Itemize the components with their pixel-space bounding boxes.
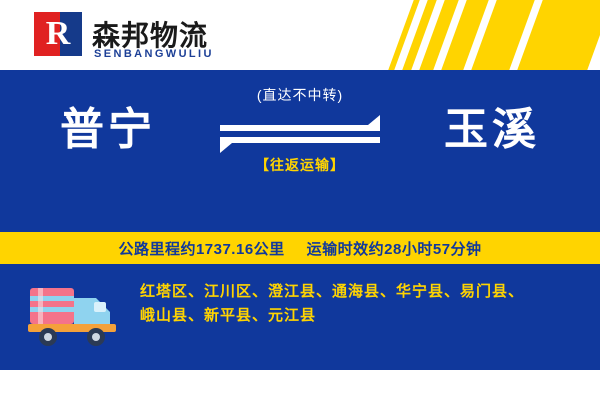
footer-strip (0, 370, 600, 400)
two-way-arrow-icon (215, 111, 385, 157)
coverage-areas: 红塔区、江川区、澄江县、通海县、华宁县、易门县、 峨山县、新平县、元江县 (140, 280, 570, 328)
logo-letter: R (34, 12, 82, 56)
duration-text: 运输时效约28小时57分钟 (307, 238, 482, 259)
poster-canvas: R 森邦物流 SENBANGWULIU 普宁 (直达不中转) 【往返运输】 玉溪… (0, 0, 600, 400)
header-bar: R 森邦物流 SENBANGWULIU (0, 0, 600, 70)
distance-text: 公路里程约1737.16公里 (118, 238, 284, 259)
truck-icon (28, 282, 124, 352)
diagonal-stripes-decoration (310, 0, 600, 70)
route-middle: (直达不中转) 【往返运输】 (215, 85, 385, 175)
route-block: 普宁 (直达不中转) 【往返运输】 玉溪 (0, 85, 600, 195)
info-bar: 公路里程约1737.16公里 运输时效约28小时57分钟 (0, 232, 600, 264)
roundtrip-note: 【往返运输】 (215, 155, 385, 175)
origin-city: 普宁 (60, 93, 156, 157)
direct-note: (直达不中转) (215, 85, 385, 105)
areas-line-2: 峨山县、新平县、元江县 (140, 304, 570, 328)
logo-icon: R (34, 12, 82, 56)
areas-line-1: 红塔区、江川区、澄江县、通海县、华宁县、易门县、 (140, 280, 570, 304)
destination-city: 玉溪 (444, 93, 540, 157)
company-name-en: SENBANGWULIU (94, 48, 214, 60)
